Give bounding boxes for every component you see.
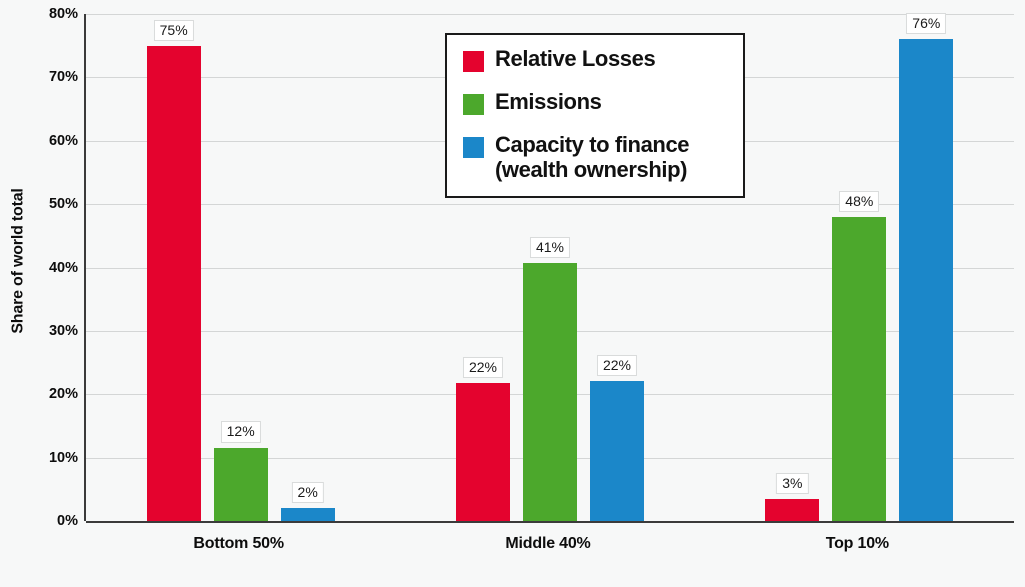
bar[interactable] <box>899 39 953 521</box>
bar-value-label: 12% <box>221 421 261 442</box>
y-axis-tick-label: 40% <box>30 260 78 276</box>
legend-label: Relative Losses <box>495 47 655 72</box>
bar[interactable] <box>214 448 268 522</box>
bar-column: 76% <box>899 14 953 521</box>
y-axis-tick-label: 0% <box>30 513 78 529</box>
legend-label: Emissions <box>495 90 601 115</box>
bar[interactable] <box>281 508 335 521</box>
bar-chart: Share of world total 0%10%20%30%40%50%60… <box>0 0 1025 587</box>
y-axis-tick-label: 10% <box>30 450 78 466</box>
bar-column: 12% <box>214 14 268 521</box>
x-axis-category-label: Bottom 50% <box>84 535 393 575</box>
y-axis-tick-label: 60% <box>30 133 78 149</box>
y-axis-tick-label: 30% <box>30 323 78 339</box>
bar-value-label: 48% <box>839 191 879 212</box>
bar-column: 48% <box>832 14 886 521</box>
y-axis-title-text: Share of world total <box>10 188 28 333</box>
y-axis-tick-label: 50% <box>30 196 78 212</box>
legend-label: Capacity to finance (wealth ownership) <box>495 133 729 182</box>
legend-color-swatch <box>463 94 484 115</box>
bar[interactable] <box>765 499 819 521</box>
bar-value-label: 22% <box>463 357 503 378</box>
bar-group: 75%12%2% <box>86 14 395 521</box>
x-axis-category-label: Middle 40% <box>393 535 702 575</box>
y-axis-tick-labels: 0%10%20%30%40%50%60%70%80% <box>30 0 78 521</box>
y-axis-title: Share of world total <box>6 0 32 521</box>
x-axis-category-labels: Bottom 50%Middle 40%Top 10% <box>84 535 1012 575</box>
bar-value-label: 41% <box>530 237 570 258</box>
bar-value-label: 3% <box>776 473 808 494</box>
bar-value-label: 76% <box>906 13 946 34</box>
chart-legend: Relative LossesEmissionsCapacity to fina… <box>445 33 745 198</box>
bar-value-label: 75% <box>154 20 194 41</box>
y-axis-tick-label: 70% <box>30 69 78 85</box>
bar-value-label: 2% <box>292 482 324 503</box>
y-axis-tick-label: 20% <box>30 386 78 402</box>
legend-color-swatch <box>463 51 484 72</box>
bar-column: 75% <box>147 14 201 521</box>
legend-item[interactable]: Relative Losses <box>463 47 729 72</box>
bar[interactable] <box>523 263 577 521</box>
legend-color-swatch <box>463 137 484 158</box>
bar[interactable] <box>147 46 201 521</box>
bar-group: 3%48%76% <box>705 14 1014 521</box>
bar[interactable] <box>832 217 886 521</box>
bar[interactable] <box>590 381 644 521</box>
bar-value-label: 22% <box>597 355 637 376</box>
x-axis-category-label: Top 10% <box>703 535 1012 575</box>
bar-column: 2% <box>281 14 335 521</box>
bar-column: 3% <box>765 14 819 521</box>
legend-item[interactable]: Capacity to finance (wealth ownership) <box>463 133 729 182</box>
axis-baseline <box>86 521 1014 523</box>
bar[interactable] <box>456 383 510 521</box>
y-axis-tick-label: 80% <box>30 6 78 22</box>
legend-item[interactable]: Emissions <box>463 90 729 115</box>
